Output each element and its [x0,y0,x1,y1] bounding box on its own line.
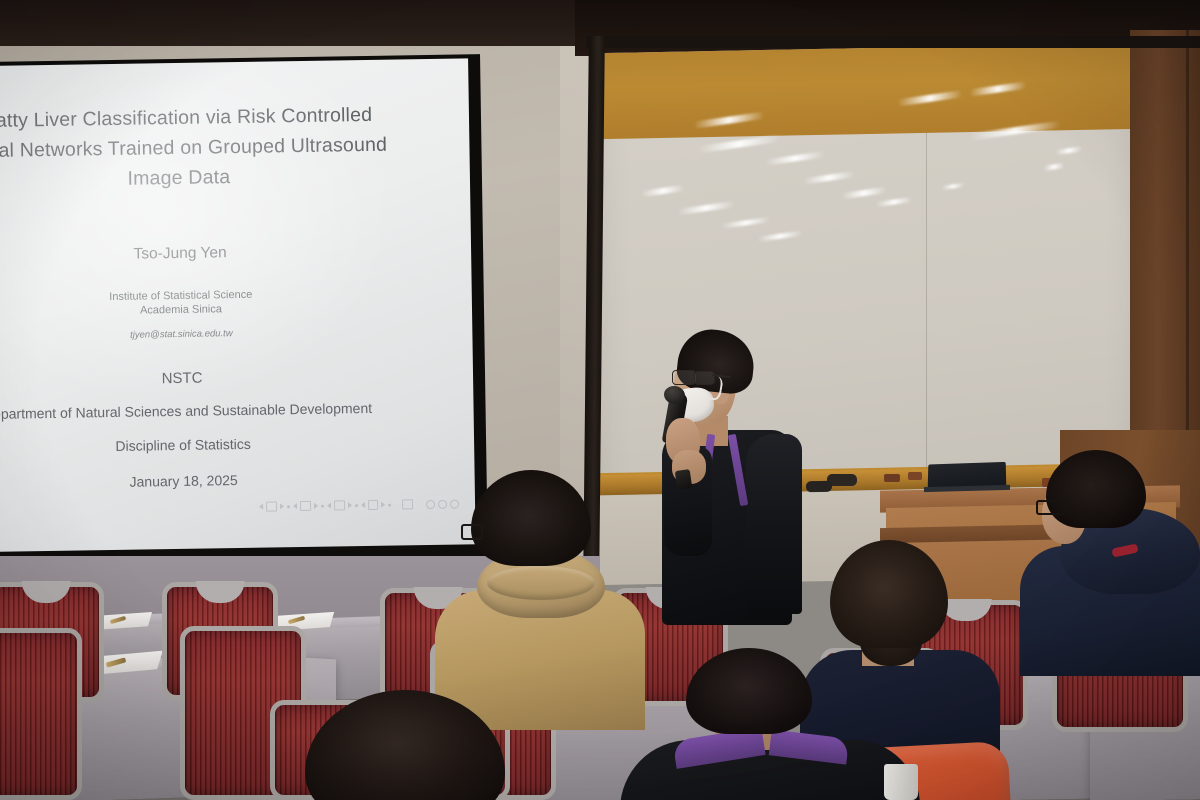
light-glint [942,183,964,190]
section-back-icon[interactable] [293,503,297,509]
nav-separator-dot [389,503,392,506]
eyeglasses-icon [461,524,483,540]
slide-organization: NSTC [0,366,417,390]
subsection-back-icon[interactable] [327,503,331,509]
board-marker [884,474,900,482]
attendee-hair [471,470,591,566]
subsection-forward-icon[interactable] [348,502,352,508]
slide-date: January 18, 2025 [0,469,419,492]
nav-separator-dot [321,504,324,507]
doc-forward-icon[interactable] [381,502,385,508]
search-circle-icon[interactable] [426,499,435,508]
whiteboard-seam [926,133,927,467]
light-glint [766,151,824,165]
slide-discipline: Discipline of Statistics [0,433,418,456]
screen-frame-top [586,36,1200,48]
attendee-suit-lanyard [620,648,920,800]
board-marker [908,472,922,480]
section-frame-icon[interactable] [300,501,311,511]
slide-back-icon[interactable] [259,504,263,510]
slide-frame-icon[interactable] [266,501,277,511]
projection-screen-frame: Fatty Liver Classification via Risk Cont… [0,54,488,567]
beamer-navigation-bar[interactable] [259,499,459,512]
section-forward-icon[interactable] [314,503,318,509]
light-glint [722,217,770,229]
nav-separator-dot [355,504,358,507]
slide-department: epartment of Natural Sciences and Sustai… [0,399,418,422]
eyeglasses-icon [1036,500,1066,515]
light-glint [1044,163,1064,171]
nav-separator-dot [287,505,290,508]
jacket-hood-collar [487,566,595,600]
light-glint [698,135,780,153]
presenter-shoulder [746,434,802,614]
light-glint [804,171,854,184]
attendee-hair [830,540,948,648]
slide: Fatty Liver Classification via Risk Cont… [0,99,419,492]
attendee-foreground [305,690,515,800]
doc-frame-icon[interactable] [368,500,379,510]
slide-forward-icon[interactable] [280,503,284,509]
eyeglasses-icon [672,370,696,385]
appendix-frame-icon[interactable] [402,499,413,509]
light-glint [1056,146,1082,155]
lecture-hall-photo: Fatty Liver Classification via Risk Cont… [0,0,1200,800]
slide-author: Tso-Jung Yen [0,241,415,266]
light-glint [758,231,802,242]
subsection-frame-icon[interactable] [334,500,345,510]
light-glint [678,201,734,215]
attendee-hair [1046,450,1146,528]
banquet-chair[interactable] [0,628,82,800]
doc-back-icon[interactable] [361,502,365,508]
slide-email: tjyen@stat.sinica.edu.tw [0,325,416,343]
slide-title-line3: Image Data [0,159,414,196]
slide-affiliation: Institute of Statistical Science Academi… [0,285,416,320]
light-glint [642,185,684,197]
light-glint [842,187,886,199]
attendee-hair [686,648,812,734]
projection-screen: Fatty Liver Classification via Risk Cont… [0,58,476,557]
chair-backrest-fabric [0,633,77,795]
paper-cup [884,764,918,800]
attendee-navy-hoodie [1020,450,1200,660]
light-glint [876,197,912,207]
attendee-hair [305,690,505,800]
